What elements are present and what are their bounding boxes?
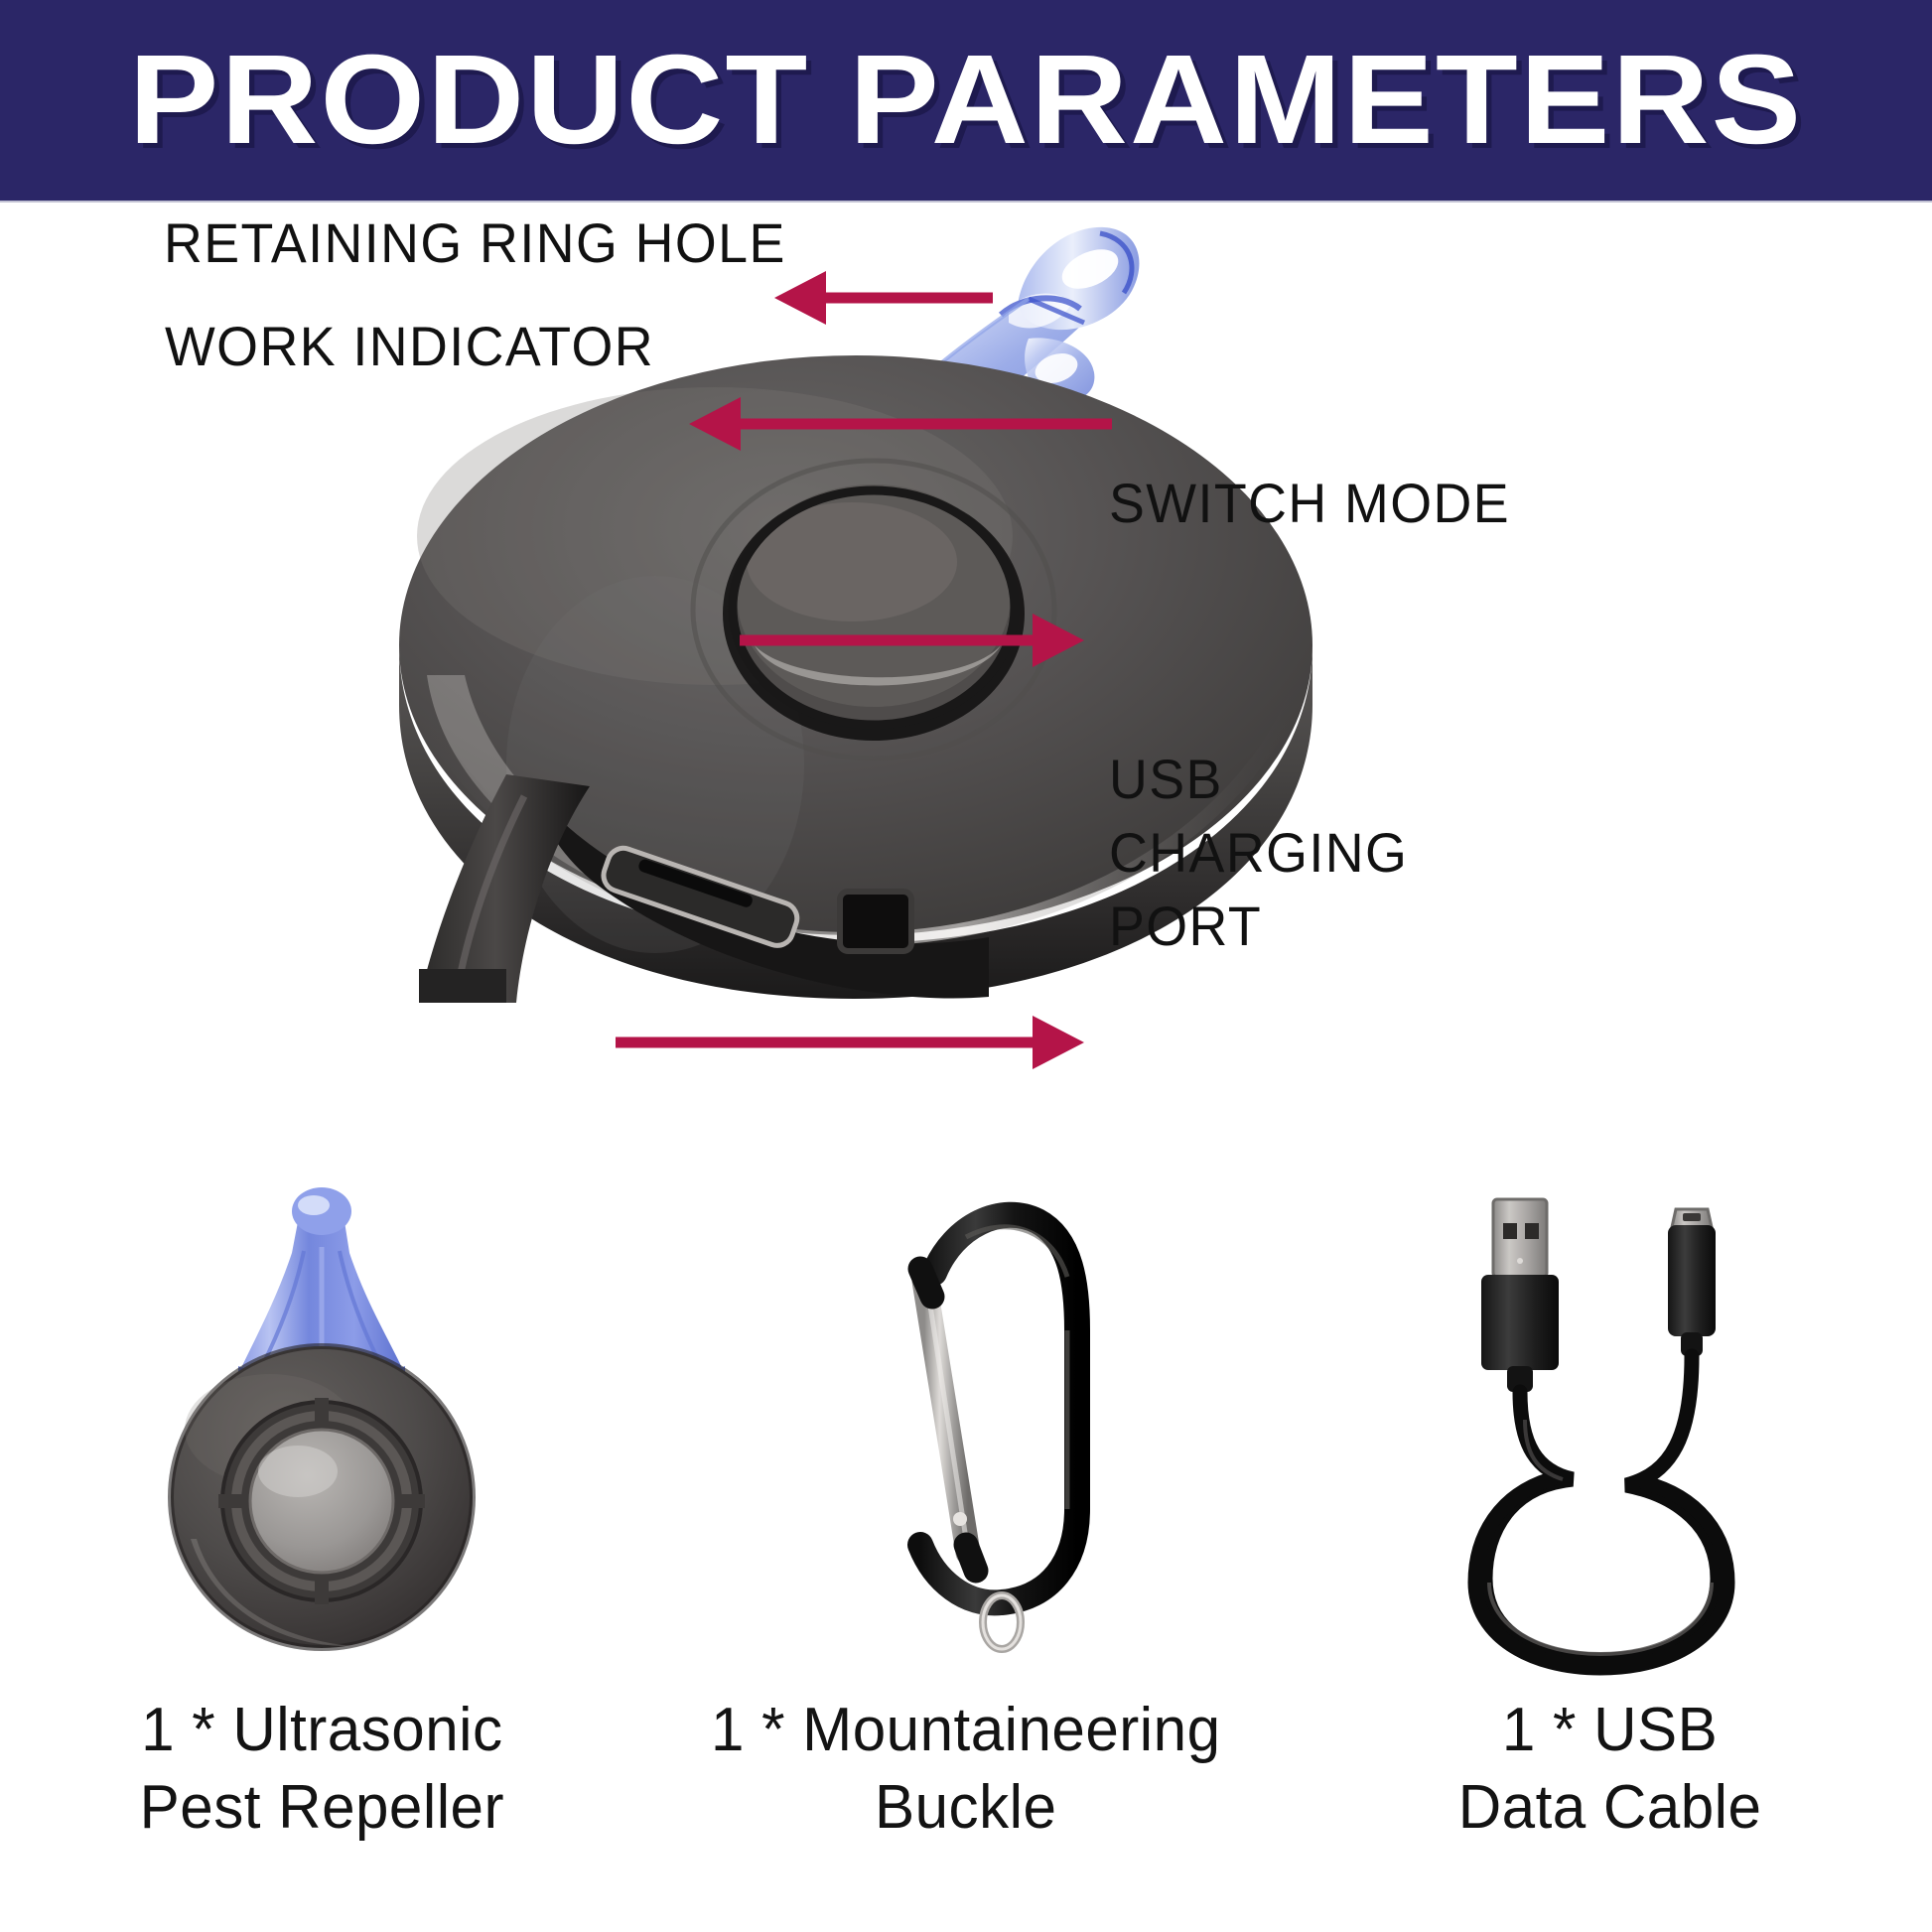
header-banner: PRODUCT PARAMETERS	[0, 0, 1932, 201]
included-items-row: 1 * Ultrasonic Pest Repeller	[0, 1181, 1932, 1932]
item-caption-ultrasonic-pest-repeller: 1 * Ultrasonic Pest Repeller	[140, 1692, 504, 1847]
item-usb-data-cable: 1 * USB Data Cable	[1288, 1181, 1932, 1932]
usb-data-cable-image	[1288, 1181, 1932, 1678]
callout-label-switch-mode: SWITCH MODE	[1109, 467, 1510, 540]
page-title: PRODUCT PARAMETERS	[0, 37, 1932, 164]
item-caption-usb-data-cable: 1 * USB Data Cable	[1458, 1692, 1762, 1847]
item-mountaineering-buckle: 1 * Mountaineering Buckle	[644, 1181, 1289, 1932]
callout-label-usb-charging-port: USB CHARGING PORT	[1109, 743, 1408, 963]
callout-label-retaining-ring-hole: RETAINING RING HOLE	[164, 207, 786, 280]
arrow-usb-charging-port	[616, 1016, 1084, 1069]
callout-label-work-indicator: WORK INDICATOR	[165, 310, 654, 383]
item-caption-mountaineering-buckle: 1 * Mountaineering Buckle	[711, 1692, 1221, 1847]
mountaineering-buckle-image	[644, 1181, 1289, 1678]
item-ultrasonic-pest-repeller: 1 * Ultrasonic Pest Repeller	[0, 1181, 644, 1932]
ultrasonic-pest-repeller-image	[0, 1181, 644, 1678]
